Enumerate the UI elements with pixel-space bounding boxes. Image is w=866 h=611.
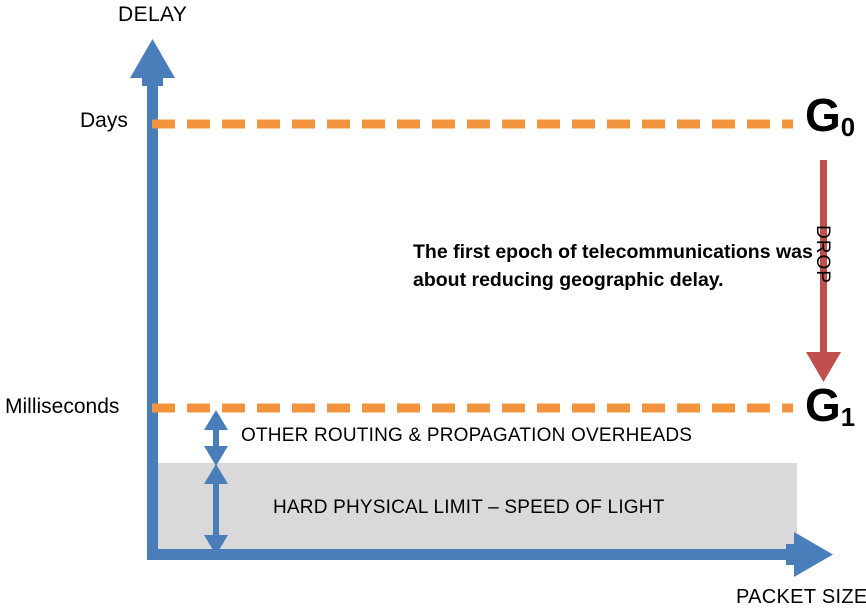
y-axis-title: DELAY <box>118 2 187 28</box>
diagram-canvas: DELAY PACKET SIZE Days Milliseconds G0 G… <box>0 0 866 611</box>
callout-text: The first epoch of telecommunications wa… <box>413 238 813 295</box>
overheads-measure-arrow <box>204 410 228 466</box>
marker-g1-subscript: 1 <box>841 404 855 432</box>
marker-g1-base: G <box>805 379 841 431</box>
y-tick-label-days: Days <box>80 108 128 134</box>
drop-arrow-label: DROP <box>811 225 833 284</box>
overheads-band-label: OTHER ROUTING & PROPAGATION OVERHEADS <box>241 424 692 448</box>
hard-limit-band-label: HARD PHYSICAL LIMIT – SPEED OF LIGHT <box>273 496 665 520</box>
marker-g0-base: G <box>805 89 841 141</box>
marker-g1: G1 <box>805 382 855 428</box>
marker-g0-subscript: 0 <box>841 114 855 142</box>
x-axis-title: PACKET SIZE <box>736 585 866 610</box>
y-tick-label-milliseconds: Milliseconds <box>5 394 119 420</box>
marker-g0: G0 <box>805 92 855 138</box>
